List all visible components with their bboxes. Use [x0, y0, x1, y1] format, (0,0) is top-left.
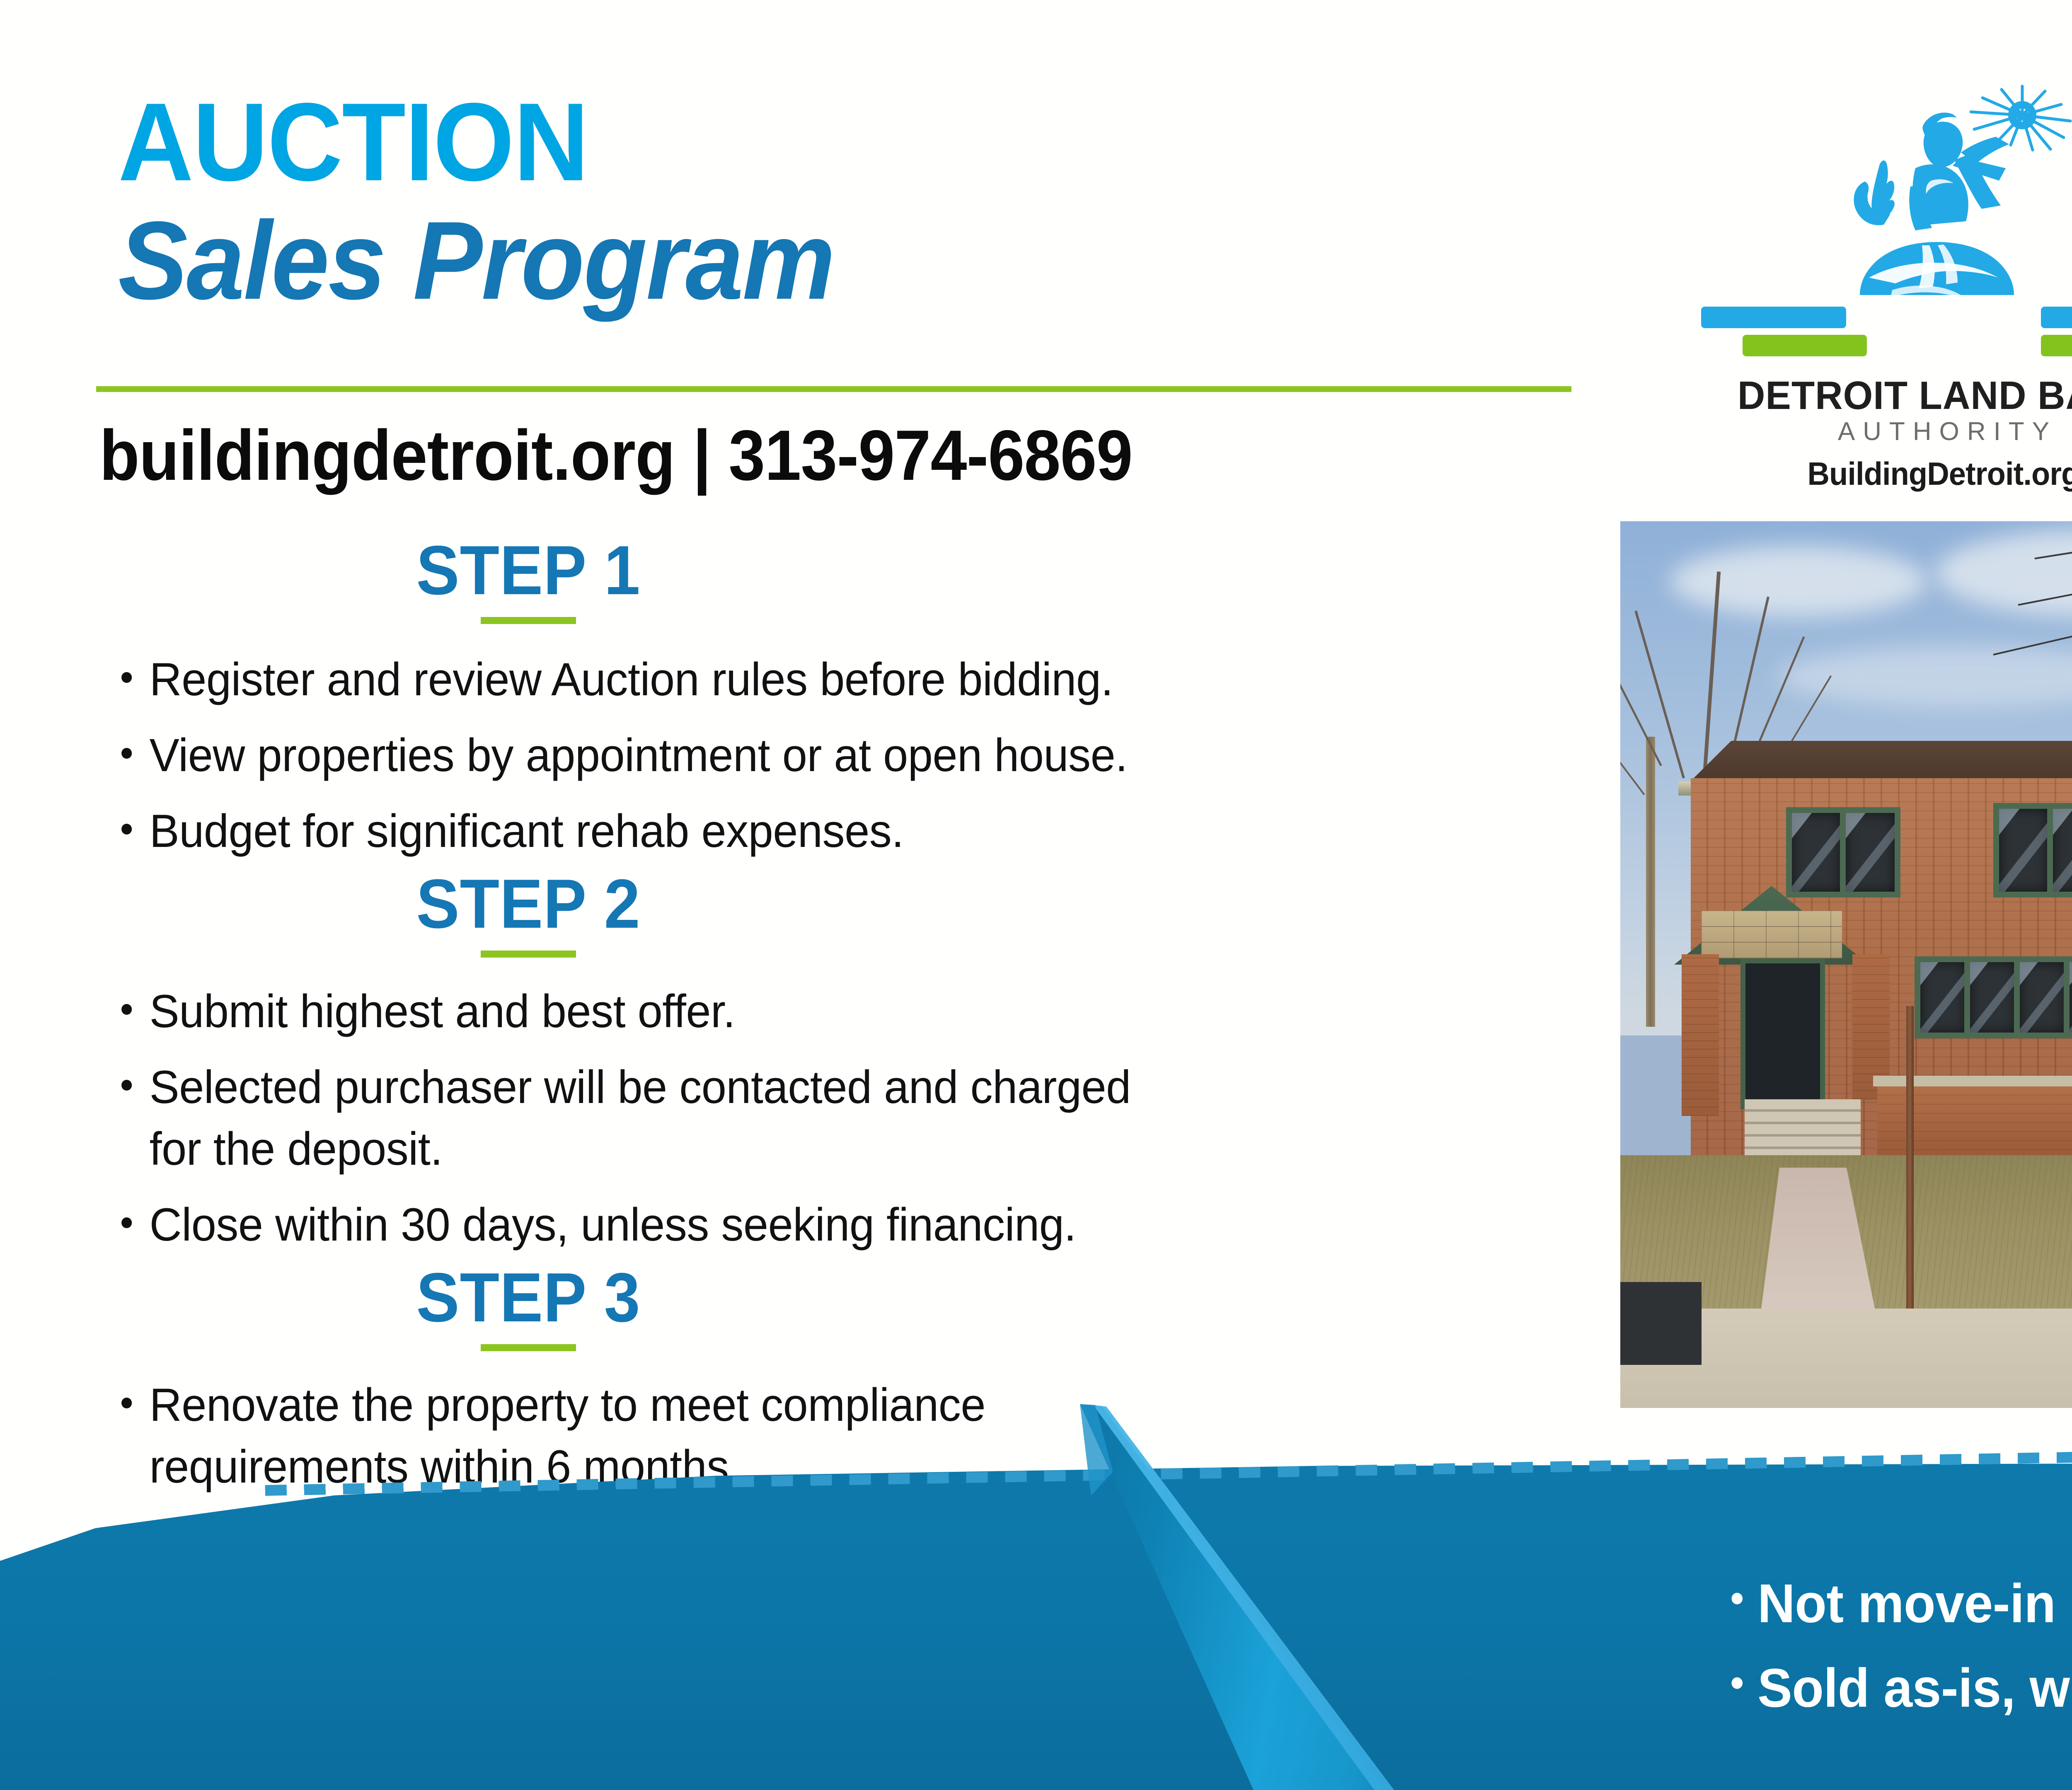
step-2-list: Submit highest and best offer. Selected …: [99, 981, 1517, 1256]
window-upper-left2: [1840, 807, 1900, 897]
logo-bar-green-left: [1743, 335, 1867, 356]
step-section-1: STEP 1 Register and review Auction rules…: [99, 530, 1517, 876]
step-3-underline: [481, 1344, 576, 1351]
list-item: Submit highest and best offer.: [99, 981, 1467, 1043]
list-item: Not move-in ready: [1720, 1572, 2072, 1635]
window-lower-2: [1964, 956, 2021, 1038]
window-upper-left: [1786, 807, 1847, 897]
logo-bar-blue-left: [1701, 307, 1846, 328]
logo-org-name: DETROIT LAND BANK: [1693, 373, 2072, 418]
window-lower-3: [2014, 956, 2071, 1038]
list-item: Selected purchaser will be contacted and…: [99, 1057, 1145, 1180]
step-3-heading: STEP 3: [257, 1258, 800, 1338]
contact-line[interactable]: buildingdetroit.org | 313-974-6869: [99, 414, 1133, 496]
logo-bar-blue-right: [2041, 307, 2072, 328]
window-upper-right2: [2047, 803, 2072, 897]
page-title-auction: AUCTION: [118, 89, 1489, 195]
banner-disclaimer-list: Not move-in ready Sold as-is, where-is: [1720, 1572, 2072, 1720]
logo-bar-green-right: [2041, 335, 2072, 356]
logo-accent-bars: [1682, 307, 2072, 360]
porch-column-left: [1682, 954, 1719, 1116]
utility-pole-distant: [1646, 737, 1655, 1027]
porch-stone-panel: [1701, 911, 1842, 958]
page-title-sales-program: Sales Program: [118, 195, 1489, 319]
step-1-heading: STEP 1: [257, 530, 800, 610]
window-upper-right: [1993, 803, 2054, 897]
front-steps: [1745, 1099, 1861, 1157]
cloud: [1670, 546, 1927, 617]
window-lower-1: [1915, 956, 1972, 1038]
list-item: Register and review Auction rules before…: [99, 649, 1467, 711]
step-1-list: Register and review Auction rules before…: [99, 649, 1517, 862]
detroit-land-bank-logo: DETROIT LAND BANK AUTHORITY BuildingDetr…: [1682, 83, 2072, 447]
rusty-post: [1906, 1006, 1914, 1338]
front-door: [1740, 958, 1825, 1109]
logo-org-subtitle: AUTHORITY: [1682, 417, 2072, 446]
list-item: Sold as-is, where-is: [1720, 1657, 2072, 1720]
logo-org-url[interactable]: BuildingDetroit.org: [1696, 455, 2072, 493]
window-lower-4: [2064, 956, 2072, 1038]
bottom-ribbon-banner: Not move-in ready Sold as-is, where-is: [0, 1392, 2072, 1790]
vacant-brick-house-photo: [1620, 521, 2072, 1408]
list-item: View properties by appointment or at ope…: [99, 725, 1467, 786]
step-2-underline: [481, 951, 576, 958]
header-block: AUCTION Sales Program: [118, 89, 1577, 319]
step-1-underline: [481, 617, 576, 624]
list-item: Close within 30 days, unless seeking fin…: [99, 1194, 1467, 1256]
list-item: Budget for significant rehab expenses.: [99, 801, 1467, 862]
step-2-heading: STEP 2: [257, 864, 800, 944]
title-divider-rule: [96, 386, 1571, 392]
stoop-cap: [1873, 1076, 2072, 1086]
step-section-2: STEP 2 Submit highest and best offer. Se…: [99, 864, 1517, 1270]
photo-black-patch: [1620, 1282, 1702, 1365]
